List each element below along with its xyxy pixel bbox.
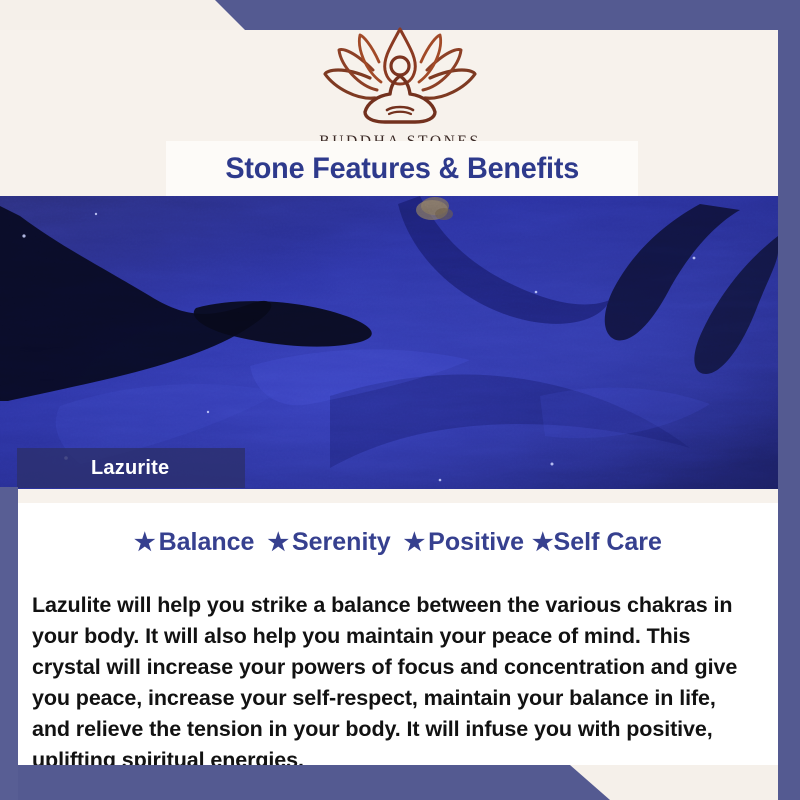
right-accent-edge bbox=[778, 0, 800, 800]
benefit-balance: ★Balance bbox=[134, 528, 254, 557]
benefit-self-care: ★Self Care bbox=[532, 528, 662, 557]
infographic-poster: BUDDHA STONES Stone Features & Benefits bbox=[0, 0, 800, 800]
star-icon: ★ bbox=[404, 529, 426, 556]
benefits-row: ★Balance★Serenity★Positive★Self Care bbox=[18, 528, 778, 557]
benefit-serenity: ★Serenity bbox=[267, 528, 390, 557]
benefit-label: Serenity bbox=[292, 528, 391, 556]
lotus-meditation-icon bbox=[0, 26, 800, 131]
star-icon: ★ bbox=[134, 529, 156, 556]
star-icon: ★ bbox=[532, 529, 554, 556]
page-title: Stone Features & Benefits bbox=[225, 152, 579, 186]
title-banner: Stone Features & Benefits bbox=[166, 141, 638, 196]
stone-name-label: Lazurite bbox=[91, 457, 169, 480]
stone-description: Lazulite will help you strike a balance … bbox=[32, 590, 746, 776]
benefit-positive: ★Positive bbox=[404, 528, 524, 557]
benefit-label: Balance bbox=[159, 528, 255, 556]
star-icon: ★ bbox=[267, 529, 289, 556]
left-accent-edge bbox=[0, 487, 18, 800]
brand-logo: BUDDHA STONES bbox=[0, 26, 800, 151]
lazurite-rock-photo bbox=[0, 196, 778, 489]
benefit-label: Self Care bbox=[554, 528, 662, 556]
photo-underline-strip bbox=[18, 489, 778, 503]
benefit-label: Positive bbox=[428, 528, 524, 556]
stone-name-tag: Lazurite bbox=[17, 448, 245, 488]
